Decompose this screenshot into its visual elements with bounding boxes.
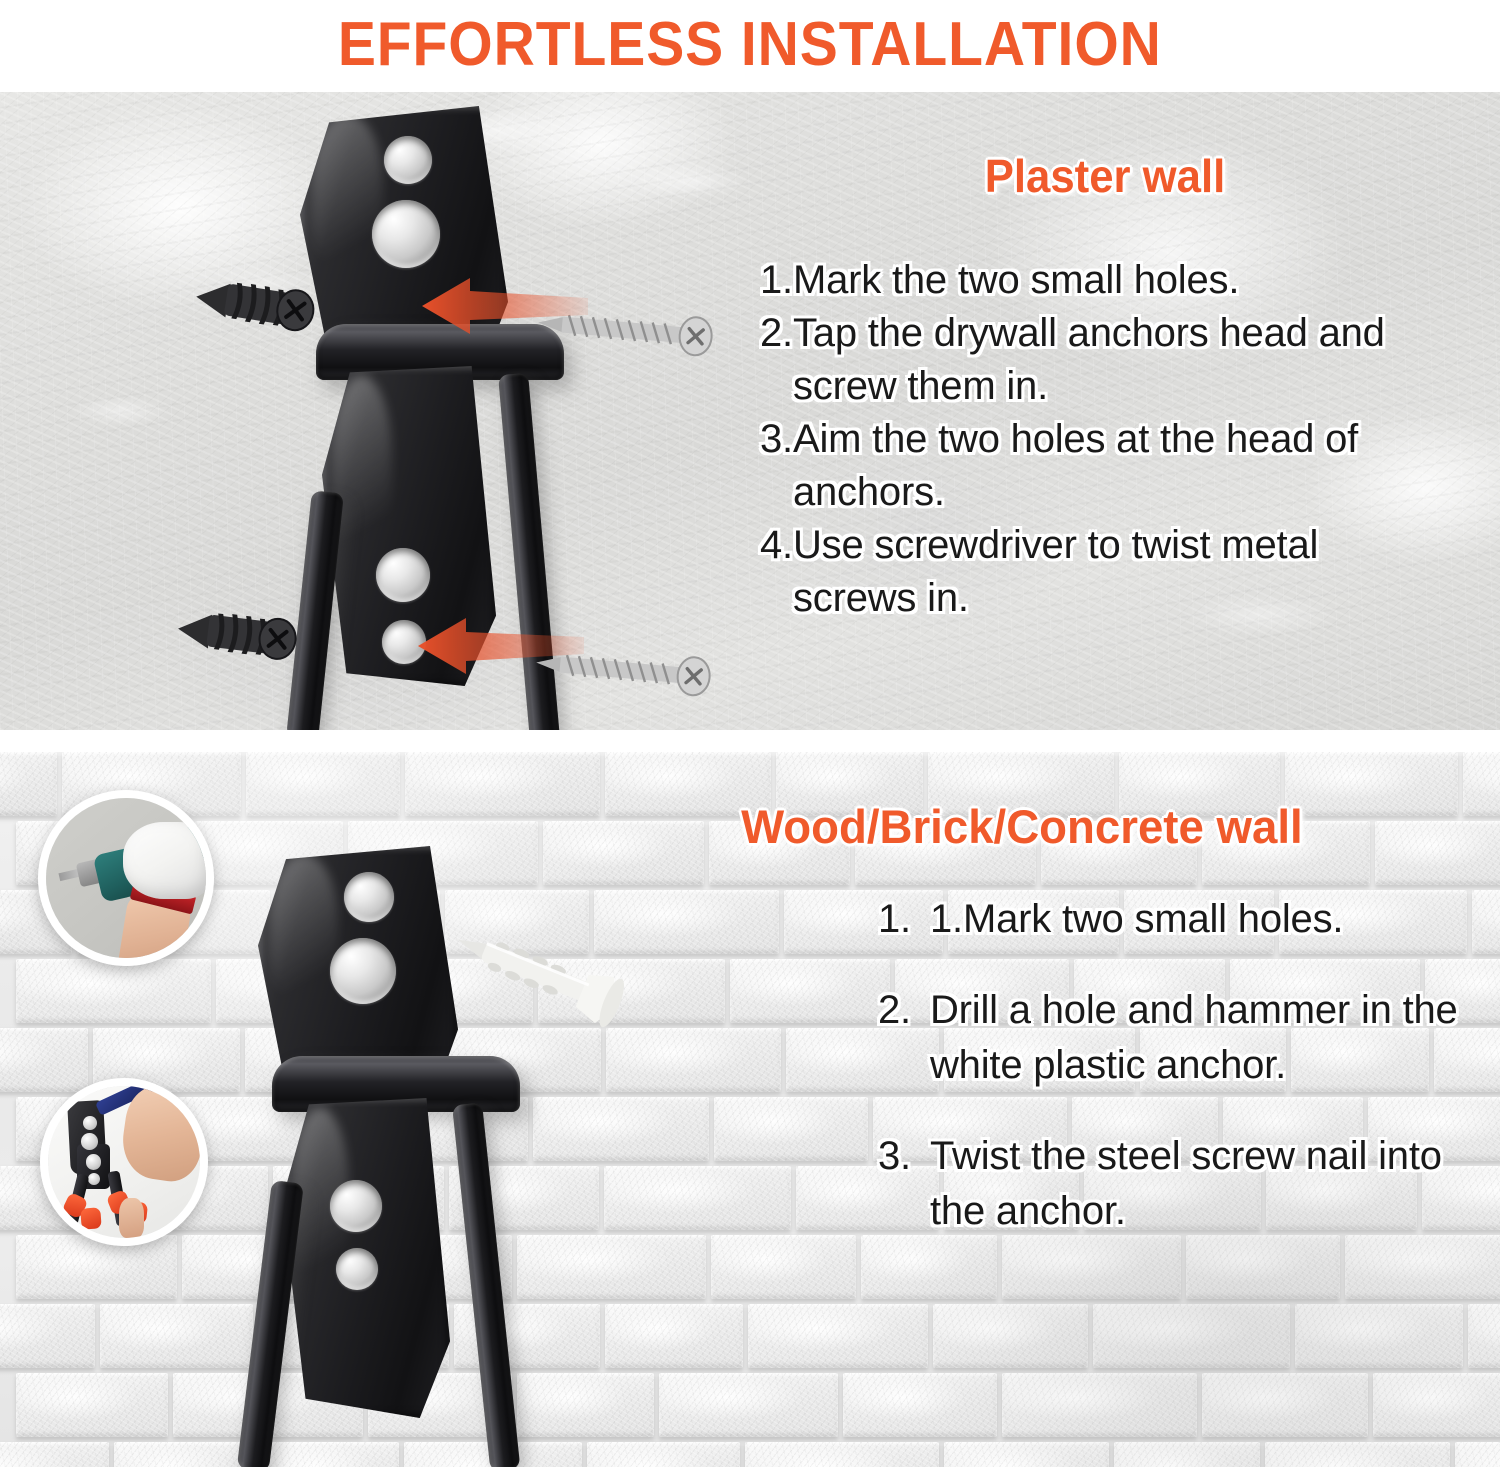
- step-item: 2. Drill a hole and hammer in the white …: [878, 983, 1470, 1093]
- step-item: 1. 1.Mark two small holes.: [878, 892, 1470, 947]
- brick: [1202, 1373, 1368, 1437]
- hook-leg-right: [452, 1102, 520, 1467]
- step-text: Aim the two holes at the head of anchors…: [793, 413, 1450, 519]
- mount-hole: [81, 1133, 98, 1150]
- brick: [1373, 1373, 1500, 1437]
- mount-hole: [83, 1116, 97, 1130]
- work-glove: [123, 822, 213, 899]
- brick: [1114, 1442, 1259, 1467]
- mount-hole-large-lower: [376, 548, 430, 602]
- brick: [1295, 1304, 1463, 1368]
- step-number: 1.: [878, 892, 930, 947]
- mount-hole: [88, 1173, 100, 1185]
- step-number: 4.: [760, 519, 793, 572]
- step-item: 3. Aim the two holes at the head of anch…: [760, 413, 1450, 519]
- mount-hole-small-upper: [344, 872, 394, 922]
- step-text: Drill a hole and hammer in the white pla…: [930, 983, 1470, 1093]
- plaster-wall-heading: Plaster wall: [777, 150, 1433, 202]
- step-item: 2. Tap the drywall anchors head and scre…: [760, 307, 1450, 413]
- brick: [1093, 1304, 1290, 1368]
- finger: [119, 1198, 143, 1238]
- plate-highlight: [312, 114, 383, 283]
- step-text: Twist the steel screw nail into the anch…: [930, 1129, 1470, 1239]
- wood-brick-concrete-steps: 1. 1.Mark two small holes. 2. Drill a ho…: [730, 892, 1470, 1239]
- step-item: 1. Mark the two small holes.: [760, 254, 1450, 307]
- mount-hole-large-lower: [330, 1180, 382, 1232]
- arrow-to-lower-hole-icon: [396, 612, 586, 678]
- hook-tip-left-end: [81, 1207, 102, 1230]
- panel-plaster-wall: Plaster wall 1. Mark the two small holes…: [0, 92, 1500, 730]
- step-item: 3. Twist the steel screw nail into the a…: [878, 1129, 1470, 1239]
- title-bar: EFFORTLESS INSTALLATION: [0, 0, 1500, 90]
- step-text: Use screwdriver to twist metal screws in…: [793, 519, 1450, 625]
- plate-highlight: [270, 854, 338, 1016]
- page-title: EFFORTLESS INSTALLATION: [338, 13, 1162, 77]
- plaster-wall-text-block: Plaster wall 1. Mark the two small holes…: [760, 150, 1450, 625]
- brick: [1265, 1442, 1450, 1467]
- step-text: Tap the drywall anchors head and screw t…: [793, 307, 1450, 413]
- mount-hole-large-upper: [330, 938, 396, 1004]
- step-number: 2.: [878, 983, 930, 1038]
- plaster-wall-steps: 1. Mark the two small holes. 2. Tap the …: [760, 254, 1450, 625]
- brick: [745, 1442, 939, 1467]
- arrow-to-upper-hole-icon: [400, 274, 590, 340]
- brick: [944, 1442, 1109, 1467]
- step-number: 3.: [760, 413, 793, 466]
- brick: [843, 1373, 996, 1437]
- photo-marking-holes-with-pen: [40, 1078, 208, 1246]
- brick: [1455, 1442, 1500, 1467]
- mount-hole: [86, 1154, 101, 1169]
- mount-hole-large-upper: [372, 200, 440, 268]
- brick: [1468, 1304, 1500, 1368]
- hook-leg-left: [237, 1180, 304, 1467]
- black-drywall-anchor-upper: [186, 260, 326, 346]
- panel-wood-brick-concrete-wall: Wood/Brick/Concrete wall 1. 1.Mark two s…: [0, 752, 1500, 1467]
- wood-brick-concrete-heading: Wood/Brick/Concrete wall: [741, 800, 1459, 854]
- brick: [748, 1304, 928, 1368]
- step-number: 2.: [760, 307, 793, 360]
- brick: [933, 1304, 1088, 1368]
- step-item: 4. Use screwdriver to twist metal screws…: [760, 519, 1450, 625]
- step-text: 1.Mark two small holes.: [930, 892, 1470, 947]
- step-text: Mark the two small holes.: [793, 254, 1450, 307]
- step-number: 3.: [878, 1129, 930, 1184]
- brick: [1002, 1373, 1198, 1437]
- brick: [1472, 890, 1500, 954]
- black-drywall-anchor-lower: [168, 590, 308, 676]
- white-plastic-expansion-anchor: [432, 922, 642, 1032]
- step-number: 1.: [760, 254, 793, 307]
- mount-hole-small-upper: [384, 136, 432, 184]
- mount-hole-small-lower: [336, 1248, 378, 1290]
- plate-highlight: [332, 376, 391, 574]
- photo-drilling-wall-with-drill: [38, 790, 214, 966]
- wood-brick-concrete-text-block: Wood/Brick/Concrete wall 1. 1.Mark two s…: [730, 800, 1470, 1275]
